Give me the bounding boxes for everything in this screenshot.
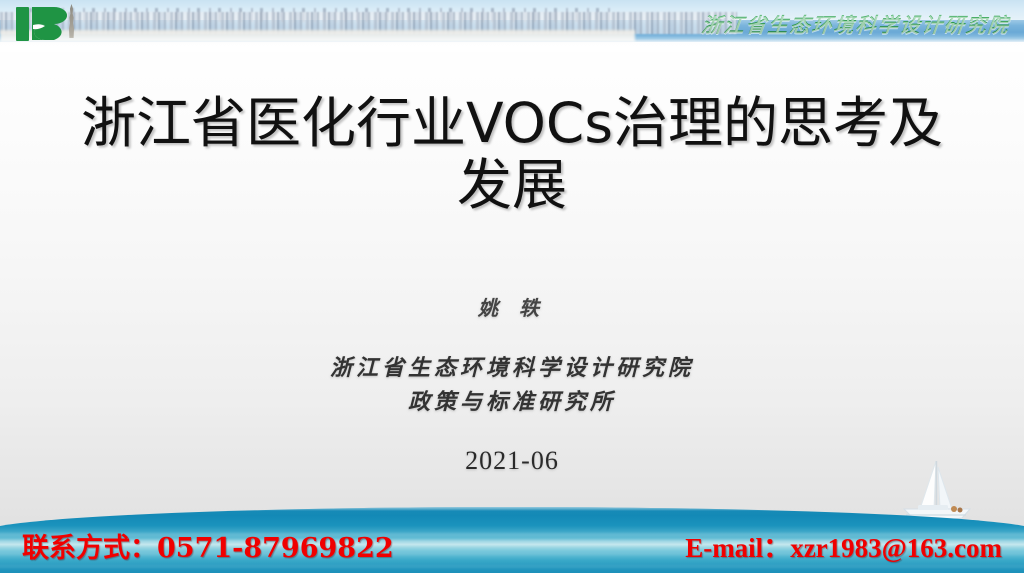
contact-phone-value: 0571-87969822	[157, 533, 394, 564]
affiliation-department: 政策与标准研究所	[0, 385, 1024, 419]
affiliation-institute: 浙江省生态环境科学设计研究院	[0, 351, 1024, 385]
slide-title: 浙江省医化行业VOCs治理的思考及发展	[0, 92, 1024, 216]
author-name: 姚 轶	[0, 292, 1024, 321]
contact-email-value: xzr1983@163.com	[790, 533, 1002, 563]
contact-email-label: E-mail：	[685, 533, 790, 563]
contact-phone-label: 联系方式：	[22, 533, 157, 564]
water-streak	[0, 565, 1024, 568]
header-banner: 浙江省生态环境科学设计研究院	[0, 0, 1024, 52]
water-top-highlight	[0, 507, 1024, 511]
presentation-title-slide: 浙江省生态环境科学设计研究院 浙江省医化行业VOCs治理的思考及发展 姚 轶 浙…	[0, 0, 1024, 573]
contact-phone: 联系方式：0571-87969822	[22, 526, 394, 565]
institute-logo-icon	[14, 4, 70, 44]
banner-bottom-fade	[0, 36, 1024, 52]
institute-name-header: 浙江省生态环境科学设计研究院	[700, 9, 1011, 38]
contact-email: E-mail：xzr1983@163.com	[685, 526, 1002, 565]
presentation-date: 2021-06	[0, 446, 1024, 476]
author-block: 姚 轶 浙江省生态环境科学设计研究院 政策与标准研究所	[0, 292, 1024, 419]
title-block: 浙江省医化行业VOCs治理的思考及发展	[0, 92, 1024, 216]
